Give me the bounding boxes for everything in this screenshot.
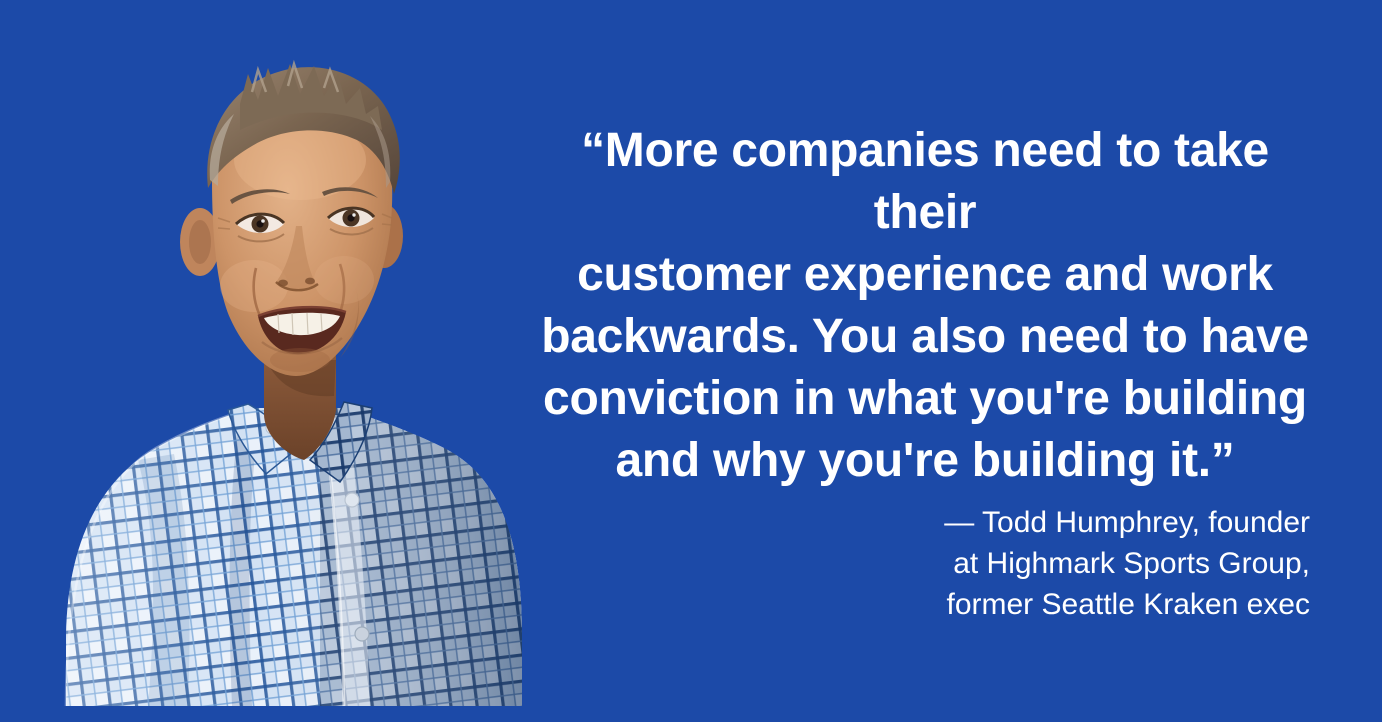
shirt-button xyxy=(345,493,359,507)
quote-text: “More companies need to take their custo… xyxy=(530,120,1320,492)
shirt-button xyxy=(355,627,369,641)
quote-card: “More companies need to take their custo… xyxy=(0,0,1382,722)
text-column: “More companies need to take their custo… xyxy=(530,0,1330,722)
portrait-illustration xyxy=(52,30,532,706)
portrait-photo xyxy=(52,30,532,706)
quote-attribution: — Todd Humphrey, founder at Highmark Spo… xyxy=(530,502,1310,625)
